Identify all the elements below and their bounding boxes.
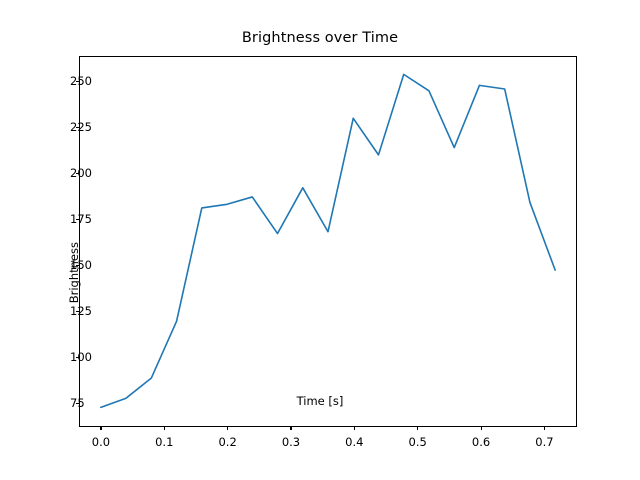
x-axis-label: Time [s] [0,394,640,408]
figure-canvas: Brightness over Time 7510012515017520022… [0,0,640,480]
x-tick-label: 0.6 [472,435,490,449]
x-tick-mark [544,426,545,430]
x-tick-mark [290,426,291,430]
brightness-line [101,74,555,407]
x-tick-mark [417,426,418,430]
x-tick-mark [481,426,482,430]
x-tick-label: 0.4 [345,435,363,449]
x-tick-mark [354,426,355,430]
x-tick-mark [100,426,101,430]
x-tick-label: 0.1 [155,435,173,449]
x-tick-label: 0.7 [535,435,553,449]
x-tick-label: 0.2 [218,435,236,449]
x-tick-mark [164,426,165,430]
x-tick-label: 0.5 [409,435,427,449]
plot-area: 75100125150175200225250 0.00.10.20.30.40… [79,56,577,427]
chart-title: Brightness over Time [0,30,640,46]
x-tick-label: 0.3 [282,435,300,449]
x-tick-label: 0.0 [92,435,110,449]
x-tick-mark [227,426,228,430]
data-series-line [80,57,576,426]
y-axis-label: Brightness [67,242,81,303]
